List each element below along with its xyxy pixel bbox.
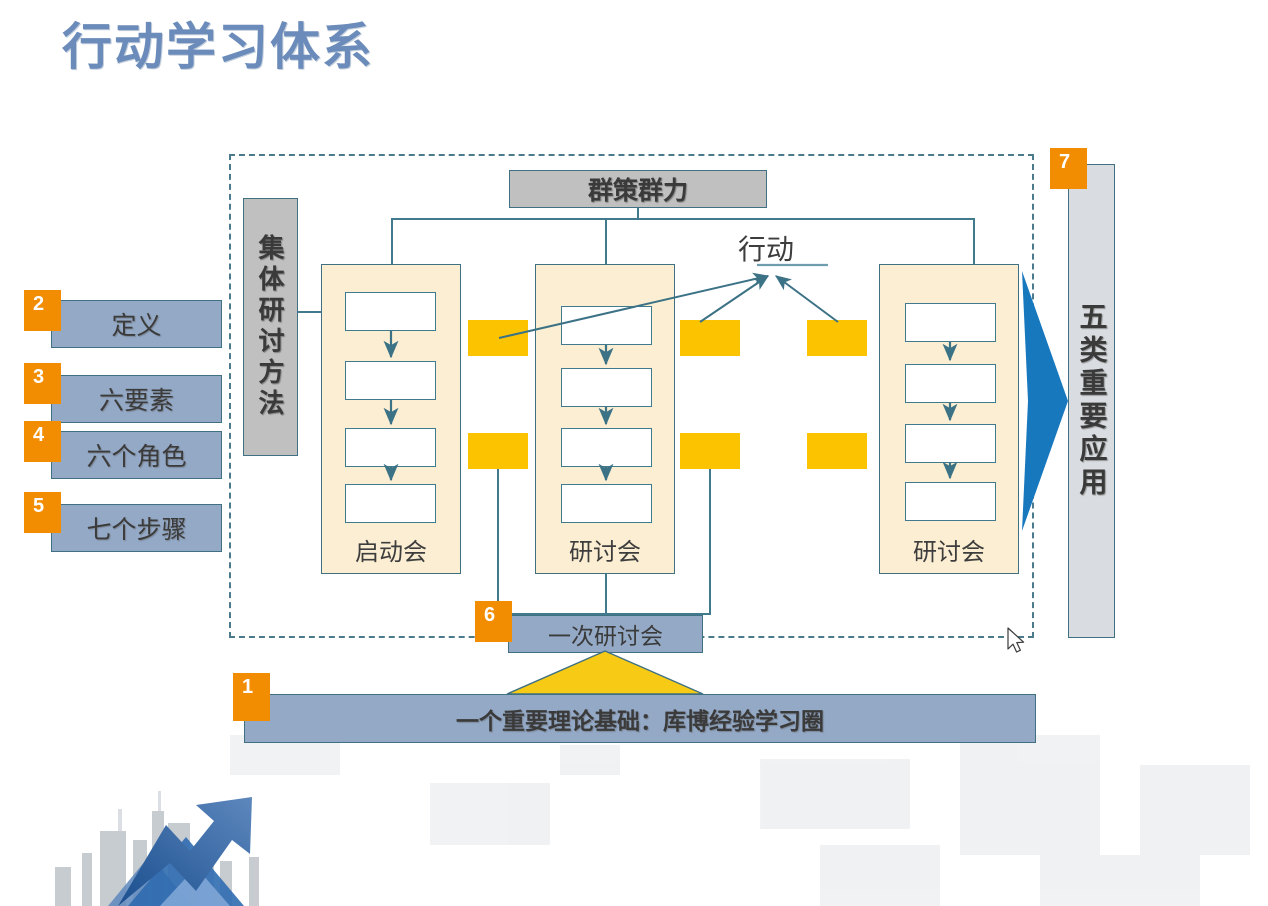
yellow-block — [468, 433, 528, 469]
watermark-graphic — [0, 735, 1268, 906]
sidebar-badge-4: 4 — [24, 421, 61, 462]
connector-yellow-left-down — [497, 469, 499, 615]
sidebar-item-label: 定义 — [111, 306, 161, 342]
sidebar-item-definition[interactable]: 定义 — [51, 300, 222, 348]
step-box — [345, 292, 436, 331]
sidebar-item-label: 七个步骤 — [86, 510, 186, 546]
connector-col2-down — [605, 574, 607, 615]
connector-col3-drop — [973, 218, 975, 264]
column-label: 研讨会 — [536, 532, 674, 567]
step-box — [345, 428, 436, 467]
step-box — [905, 424, 996, 463]
step-box — [561, 484, 652, 523]
yellow-block — [468, 320, 528, 356]
once-workshop-label: 一次研讨会 — [548, 617, 663, 651]
foundation-bar: 一个重要理论基础：库博经验学习圈 — [244, 694, 1036, 743]
step-box — [905, 482, 996, 521]
application-badge-7: 7 — [1050, 148, 1087, 189]
foundation-badge-1: 1 — [233, 673, 270, 721]
yellow-block — [680, 433, 740, 469]
slide-canvas: 行动学习体系 定义 2 六要素 3 六个角色 4 七个步骤 5 群策群力 集体研… — [0, 0, 1268, 906]
column-label: 研讨会 — [880, 532, 1018, 567]
page-title: 行动学习体系 — [62, 22, 374, 72]
action-label: 行动 — [738, 228, 794, 268]
step-box — [561, 306, 652, 345]
step-box — [561, 428, 652, 467]
sidebar-badge-5: 5 — [24, 492, 61, 533]
step-box — [905, 303, 996, 342]
application-box-five-categories: 五类重要应用 — [1068, 164, 1115, 638]
step-box — [905, 364, 996, 403]
foundation-triangle — [507, 651, 703, 694]
yellow-block — [807, 320, 867, 356]
foundation-label: 一个重要理论基础：库博经验学习圈 — [456, 702, 824, 736]
connector-col2-drop — [605, 218, 607, 264]
connector-yellow-mid-down — [709, 469, 711, 615]
connector-bus-horizontal — [391, 218, 975, 220]
step-box — [561, 368, 652, 407]
background-watermark-image — [0, 735, 1268, 906]
sidebar-item-seven-steps[interactable]: 七个步骤 — [51, 504, 222, 552]
yellow-block — [807, 433, 867, 469]
column-label: 启动会 — [322, 532, 460, 567]
header-box-collective-wisdom: 群策群力 — [509, 170, 767, 208]
sidebar-item-label: 六要素 — [99, 381, 174, 417]
once-workshop-box: 一次研讨会 — [508, 615, 703, 653]
sidebar-badge-2: 2 — [24, 290, 61, 331]
once-workshop-badge-6: 6 — [475, 601, 512, 642]
method-box-collective-discussion: 集体研讨方法 — [243, 198, 298, 456]
sidebar-item-label: 六个角色 — [86, 437, 186, 473]
sidebar-item-six-elements[interactable]: 六要素 — [51, 375, 222, 423]
step-box — [345, 484, 436, 523]
yellow-block — [680, 320, 740, 356]
sidebar-badge-3: 3 — [24, 363, 61, 404]
step-box — [345, 361, 436, 400]
sidebar-item-six-roles[interactable]: 六个角色 — [51, 431, 222, 479]
connector-col1-drop — [391, 218, 393, 264]
